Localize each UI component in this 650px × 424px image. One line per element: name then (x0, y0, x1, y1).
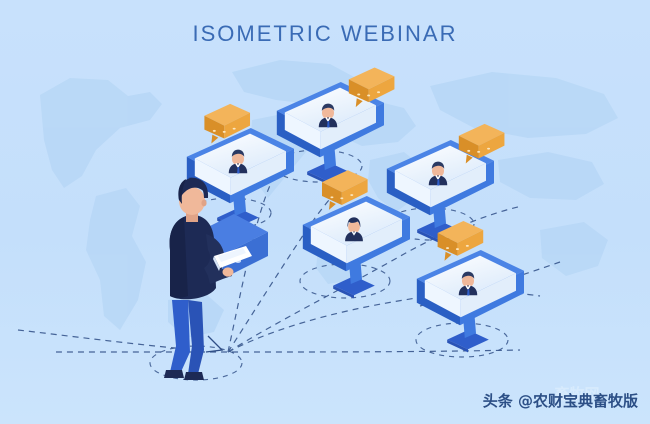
connector-arrowhead (206, 336, 222, 352)
isometric-scene (0, 0, 650, 424)
page-title: ISOMETRIC WEBINAR (0, 21, 650, 47)
monitor-bottom-right (417, 221, 524, 352)
illustration-canvas: ISOMETRIC WEBINAR 畜牧网 头条 @农财宝典畜牧版 (0, 0, 650, 424)
watermark: 头条 @农财宝典畜牧版 (483, 390, 638, 411)
monitor-top-center (277, 67, 395, 184)
watermark-text: 头条 @农财宝典畜牧版 (483, 390, 638, 411)
